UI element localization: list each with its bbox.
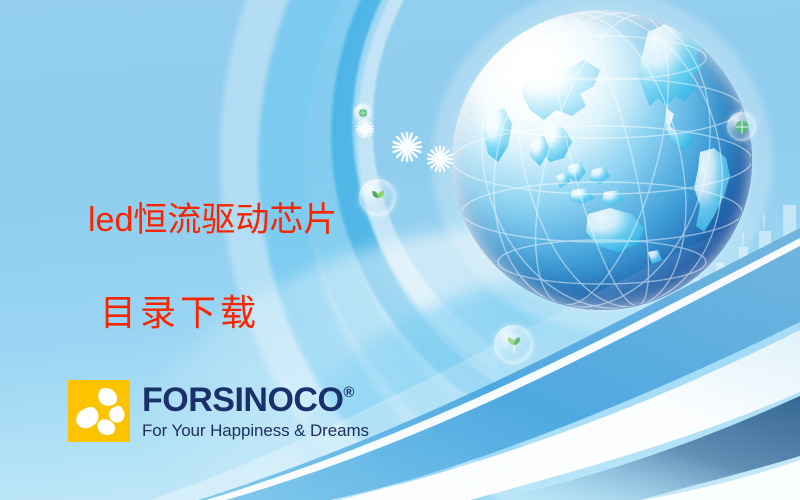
logo-tagline: For Your Happiness & Dreams: [142, 422, 369, 439]
pinwheel-petals: [68, 380, 130, 442]
logo-brand-text: FORSINOCO: [142, 383, 343, 417]
registered-trademark-icon: ®: [343, 385, 354, 400]
banner-canvas: led恒流驱动芯片 目录下载 FORSINOCO®: [0, 0, 800, 500]
logo-wordmark: FORSINOCO® For Your Happiness & Dreams: [142, 383, 369, 439]
headline-line-2: 目录下载: [88, 292, 418, 334]
four-petal-pinwheel-icon: [68, 380, 130, 442]
logo-brand-name: FORSINOCO®: [142, 383, 369, 417]
company-logo: FORSINOCO® For Your Happiness & Dreams: [68, 380, 369, 442]
headline-line-1: led恒流驱动芯片: [88, 200, 418, 240]
headline: led恒流驱动芯片 目录下载: [88, 162, 418, 372]
